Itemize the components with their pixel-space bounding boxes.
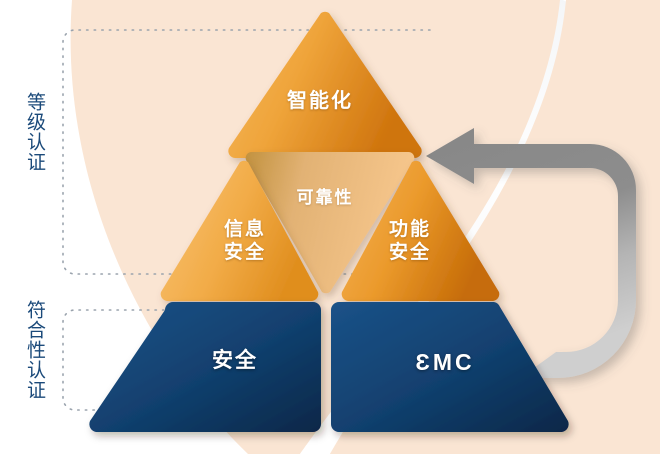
side-label-grade-certification: 等级认证 [24, 92, 44, 172]
pyramid-diagram-svg [0, 0, 660, 454]
diagram-canvas: 等级认证 符合性认证 智能化 可靠性 信息 安全 功能 安全 安全 ƐMC [0, 0, 660, 454]
block-label-smart: 智能化 [265, 88, 375, 112]
block-label-safety: 安全 [175, 348, 295, 374]
block-label-functional-safety: 功能 安全 [365, 218, 455, 264]
block-label-information-security: 信息 安全 [200, 218, 290, 264]
block-label-reliability: 可靠性 [275, 188, 375, 209]
side-label-conformity-certification: 符合性认证 [24, 300, 44, 400]
block-label-emc: ƐMC [330, 348, 560, 376]
